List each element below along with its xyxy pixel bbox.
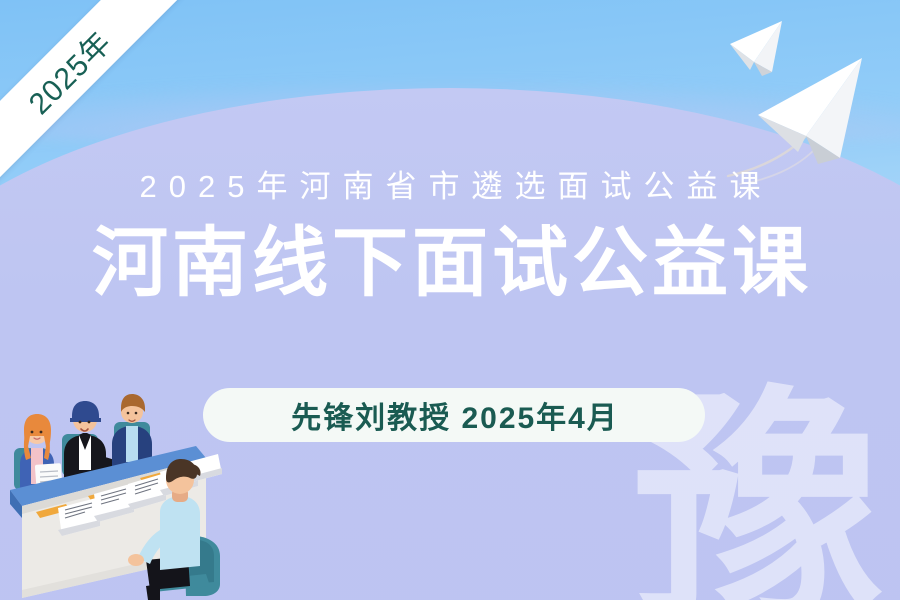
presenter-pill[interactable]: 先锋刘教授 2025年4月 — [203, 388, 705, 442]
paper-plane-small-icon — [730, 21, 782, 76]
banner-subtitle: 2025年河南省市遴选面试公益课 — [0, 168, 900, 205]
ribbon-label: 2025年 — [16, 19, 119, 122]
paper-plane-large-icon — [758, 58, 862, 164]
headline-group: 2025年河南省市遴选面试公益课 河南线下面试公益课 — [0, 168, 900, 305]
banner-title: 河南线下面试公益课 — [0, 223, 900, 305]
interview-panel-illustration — [0, 360, 270, 600]
presenter-pill-label: 先锋刘教授 2025年4月 — [289, 393, 619, 437]
promo-banner: 2025年 豫 2025年河南省市遴选面试公益课 河南线下面试公益课 先锋刘教授… — [0, 0, 900, 600]
